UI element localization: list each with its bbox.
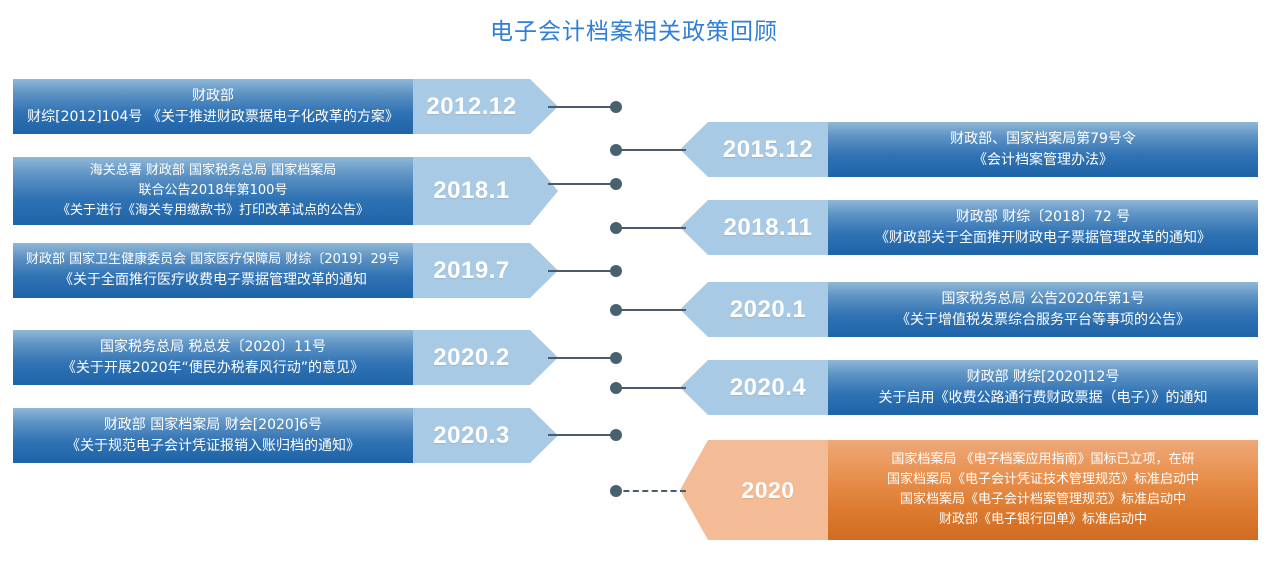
event-date-panel: 2012.12 — [413, 79, 530, 134]
event-text-line: 财政部 国家卫生健康委员会 国家医疗保障局 财综〔2019〕29号 — [26, 250, 400, 270]
event-text-line: 国家档案局《电子会计档案管理规范》标准启动中 — [900, 490, 1186, 510]
event-date-panel: 2020.4 — [708, 360, 828, 415]
event-text-line: 财政部 — [192, 86, 234, 107]
event-text-line: 关于启用《收费公路通行费财政票据（电子）》的通知 — [879, 388, 1208, 409]
connector-line-left-3 — [548, 357, 616, 359]
event-date-label: 2018.1 — [433, 177, 509, 205]
timeline-diagram: 财政部 财综[2012]104号 《关于推进财政票据电子化改革的方案》 2012… — [0, 0, 1268, 563]
event-text-line: 财政部、国家档案局第79号令 — [950, 129, 1136, 150]
event-text-line: 财政部 财综[2020]12号 — [967, 367, 1120, 388]
event-content-panel: 国家档案局 《电子档案应用指南》国标已立项，在研 国家档案局《电子会计凭证技术管… — [828, 440, 1258, 540]
event-date-panel: 2018.1 — [413, 157, 530, 225]
timeline-dot — [610, 222, 622, 234]
event-date-label: 2020.4 — [730, 374, 806, 402]
event-date-label: 2019.7 — [433, 257, 509, 285]
timeline-event-right-3[interactable]: 2020.4 财政部 财综[2020]12号 关于启用《收费公路通行费财政票据（… — [708, 360, 1258, 415]
event-text-line: 联合公告2018年第100号 — [139, 181, 288, 201]
event-text-line: 财政部《电子银行回单》标准启动中 — [939, 510, 1147, 530]
timeline-event-left-4[interactable]: 财政部 国家档案局 财会[2020]6号 《关于规范电子会计凭证报销入账归档的通… — [13, 408, 530, 463]
timeline-dot — [610, 382, 622, 394]
event-text-line: 财政部 财综〔2018〕72 号 — [956, 207, 1130, 228]
event-text-line: 财政部 国家档案局 财会[2020]6号 — [104, 415, 322, 436]
event-content-panel: 财政部 财综[2012]104号 《关于推进财政票据电子化改革的方案》 — [13, 79, 413, 134]
timeline-event-right-0[interactable]: 2015.12 财政部、国家档案局第79号令 《会计档案管理办法》 — [708, 122, 1258, 177]
event-date-label: 2020.1 — [730, 296, 806, 324]
event-content-panel: 财政部、国家档案局第79号令 《会计档案管理办法》 — [828, 122, 1258, 177]
event-date-label: 2020 — [741, 477, 794, 504]
event-content-panel: 国家税务总局 税总发〔2020〕11号 《关于开展2020年“便民办税春风行动”… — [13, 330, 413, 385]
event-date-label: 2020.3 — [433, 422, 509, 450]
event-text-line: 国家档案局《电子会计凭证技术管理规范》标准启动中 — [887, 470, 1199, 490]
timeline-dot — [610, 429, 622, 441]
event-text-line: 《财政部关于全面推开财政电子票据管理改革的通知》 — [875, 228, 1211, 249]
event-text-line: 《关于规范电子会计凭证报销入账归档的通知》 — [66, 436, 360, 457]
timeline-dot — [610, 352, 622, 364]
connector-line-right-2 — [614, 309, 686, 311]
timeline-dot — [610, 485, 622, 497]
connector-line-right-4 — [614, 490, 686, 492]
timeline-event-left-1[interactable]: 海关总署 财政部 国家税务总局 国家档案局 联合公告2018年第100号 《关于… — [13, 157, 530, 225]
connector-line-right-1 — [614, 227, 686, 229]
timeline-dot — [610, 101, 622, 113]
timeline-dot — [610, 304, 622, 316]
timeline-event-left-3[interactable]: 国家税务总局 税总发〔2020〕11号 《关于开展2020年“便民办税春风行动”… — [13, 330, 530, 385]
event-date-label: 2015.12 — [723, 136, 813, 164]
event-text-line: 《关于全面推行医疗收费电子票据管理改革的通知 — [59, 270, 367, 291]
event-content-panel: 财政部 财综〔2018〕72 号 《财政部关于全面推开财政电子票据管理改革的通知… — [828, 200, 1258, 255]
event-date-panel: 2020.3 — [413, 408, 530, 463]
timeline-event-left-2[interactable]: 财政部 国家卫生健康委员会 国家医疗保障局 财综〔2019〕29号 《关于全面推… — [13, 243, 530, 298]
event-date-panel: 2019.7 — [413, 243, 530, 298]
connector-line-right-3 — [614, 387, 686, 389]
connector-line-right-0 — [614, 149, 686, 151]
event-date-panel: 2020.1 — [708, 282, 828, 337]
event-date-panel: 2015.12 — [708, 122, 828, 177]
timeline-dot — [610, 178, 622, 190]
event-text-line: 海关总署 财政部 国家税务总局 国家档案局 — [90, 161, 336, 181]
event-content-panel: 海关总署 财政部 国家税务总局 国家档案局 联合公告2018年第100号 《关于… — [13, 157, 413, 225]
connector-line-left-2 — [548, 270, 616, 272]
event-content-panel: 国家税务总局 公告2020年第1号 《关于增值税发票综合服务平台等事项的公告》 — [828, 282, 1258, 337]
event-text-line: 《关于开展2020年“便民办税春风行动”的意见》 — [62, 358, 364, 379]
event-date-label: 2018.11 — [724, 214, 813, 242]
event-content-panel: 财政部 财综[2020]12号 关于启用《收费公路通行费财政票据（电子）》的通知 — [828, 360, 1258, 415]
event-text-line: 《会计档案管理办法》 — [973, 150, 1113, 171]
event-text-line: 《关于增值税发票综合服务平台等事项的公告》 — [896, 310, 1190, 331]
event-content-panel: 财政部 国家卫生健康委员会 国家医疗保障局 财综〔2019〕29号 《关于全面推… — [13, 243, 413, 298]
event-text-line: 国家税务总局 公告2020年第1号 — [942, 289, 1145, 310]
event-date-label: 2012.12 — [426, 93, 516, 121]
timeline-dot — [610, 144, 622, 156]
event-date-label: 2020.2 — [433, 344, 509, 372]
event-text-line: 国家档案局 《电子档案应用指南》国标已立项，在研 — [891, 450, 1194, 470]
connector-line-left-1 — [548, 183, 616, 185]
event-text-line: 财综[2012]104号 《关于推进财政票据电子化改革的方案》 — [27, 107, 399, 128]
timeline-event-right-1[interactable]: 2018.11 财政部 财综〔2018〕72 号 《财政部关于全面推开财政电子票… — [708, 200, 1258, 255]
timeline-event-right-4[interactable]: 2020 国家档案局 《电子档案应用指南》国标已立项，在研 国家档案局《电子会计… — [708, 440, 1258, 540]
timeline-dot — [610, 265, 622, 277]
timeline-event-left-0[interactable]: 财政部 财综[2012]104号 《关于推进财政票据电子化改革的方案》 2012… — [13, 79, 530, 134]
connector-line-left-4 — [548, 434, 616, 436]
event-content-panel: 财政部 国家档案局 财会[2020]6号 《关于规范电子会计凭证报销入账归档的通… — [13, 408, 413, 463]
event-date-panel: 2020.2 — [413, 330, 530, 385]
connector-line-left-0 — [548, 106, 616, 108]
event-date-panel: 2018.11 — [708, 200, 828, 255]
event-text-line: 《关于进行《海关专用缴款书》打印改革试点的公告》 — [57, 201, 369, 221]
timeline-event-right-2[interactable]: 2020.1 国家税务总局 公告2020年第1号 《关于增值税发票综合服务平台等… — [708, 282, 1258, 337]
event-text-line: 国家税务总局 税总发〔2020〕11号 — [100, 337, 326, 358]
event-date-panel: 2020 — [708, 440, 828, 540]
